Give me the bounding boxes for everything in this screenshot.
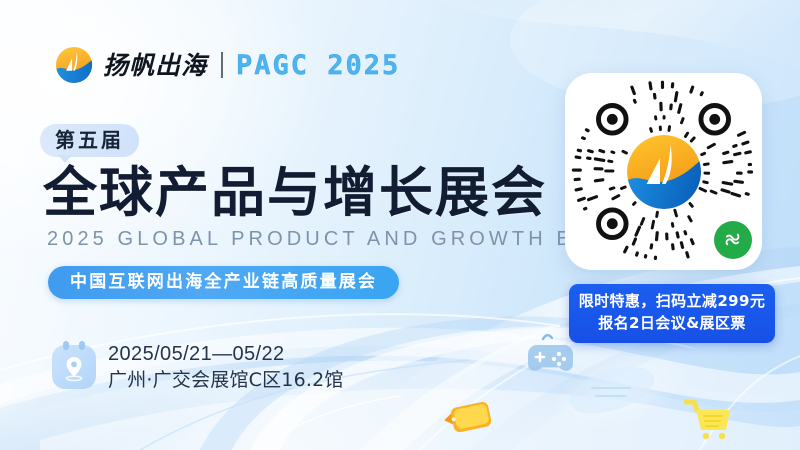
brand-name-en: PAGC 2025 bbox=[236, 52, 400, 79]
promo-line-2: 报名2日会议&展区票 bbox=[569, 313, 775, 335]
event-promo-banner: 扬帆出海 PAGC 2025 第五届 全球产品与增长展会 2025 GLOBAL… bbox=[0, 0, 800, 450]
edition-badge-wrap: 第五届 bbox=[40, 124, 139, 157]
shopping-cart-icon bbox=[682, 396, 738, 444]
wechat-miniprogram-qr-code[interactable] bbox=[565, 73, 762, 270]
sail-boat-sun-logo-icon bbox=[55, 46, 93, 84]
promo-banner[interactable]: 限时特惠，扫码立减299元 报名2日会议&展区票 bbox=[569, 284, 775, 343]
location-pin-icon bbox=[52, 345, 96, 389]
brand-lockup: 扬帆出海 PAGC 2025 bbox=[55, 44, 400, 86]
event-meta-text: 2025/05/21—05/22 广州·广交会展馆C区16.2馆 bbox=[108, 342, 344, 392]
price-tag-icon bbox=[440, 396, 498, 438]
brand-divider bbox=[221, 52, 223, 78]
event-venue: 广州·广交会展馆C区16.2馆 bbox=[108, 368, 344, 392]
promo-line-1: 限时特惠，扫码立减299元 bbox=[569, 291, 775, 313]
brand-name-cn: 扬帆出海 bbox=[103, 53, 207, 78]
edition-badge: 第五届 bbox=[40, 124, 139, 157]
wechat-miniprogram-icon bbox=[714, 221, 752, 259]
event-meta: 2025/05/21—05/22 广州·广交会展馆C区16.2馆 bbox=[52, 342, 344, 392]
page-title: 全球产品与增长展会 bbox=[43, 164, 547, 221]
qr-center-logo-icon bbox=[627, 135, 701, 209]
event-date: 2025/05/21—05/22 bbox=[108, 342, 344, 368]
gamepad-icon bbox=[523, 333, 577, 381]
tagline-pill: 中国互联网出海全产业链高质量展会 bbox=[48, 266, 399, 299]
